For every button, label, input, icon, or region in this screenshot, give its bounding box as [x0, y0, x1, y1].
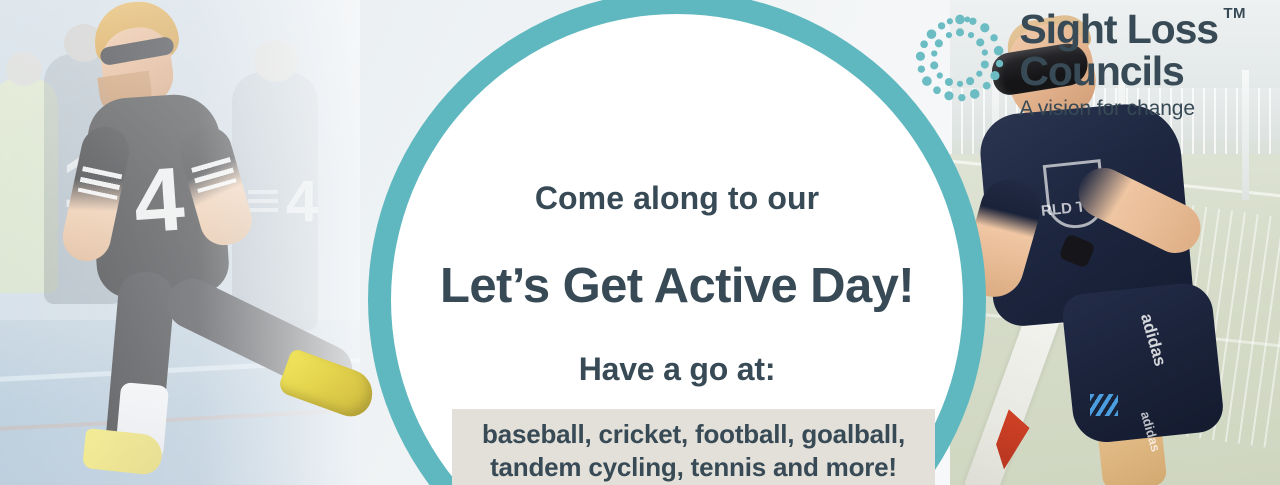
- dot-ring-logo-icon: [914, 13, 1006, 105]
- activities-line-1: baseball, cricket, football, goalball,: [462, 418, 925, 451]
- left-photo-fade-overlay: [0, 0, 360, 485]
- activities-line-2: tandem cycling, tennis and more!: [462, 451, 925, 484]
- subheading: Have a go at:: [377, 351, 977, 388]
- blind-football-photo: 12 4 4: [0, 0, 360, 485]
- promotional-banner: 12 4 4: [0, 0, 1280, 485]
- logo-tagline: A vision for change: [1019, 97, 1218, 121]
- event-title: Let’s Get Active Day!: [377, 258, 977, 314]
- logo-line-2: Councils: [1019, 51, 1218, 92]
- shorts-logo-stripes: [1090, 394, 1118, 416]
- activities-panel: baseball, cricket, football, goalball, t…: [452, 409, 935, 485]
- logo-wordmark: TM Sight Loss Councils A vision for chan…: [1019, 9, 1252, 121]
- banner-content: Come along to our Let’s Get Active Day! …: [377, 0, 977, 485]
- sight-loss-councils-logo: TM Sight Loss Councils A vision for chan…: [914, 9, 1252, 121]
- trademark-symbol: TM: [1223, 5, 1246, 22]
- logo-line-1: Sight Loss: [1019, 9, 1218, 50]
- pre-headline: Come along to our: [377, 180, 977, 217]
